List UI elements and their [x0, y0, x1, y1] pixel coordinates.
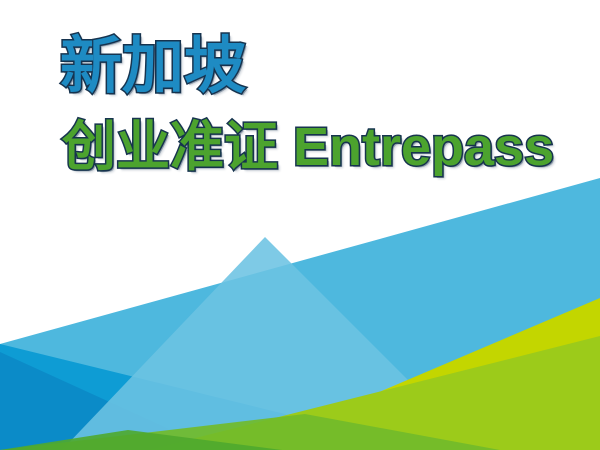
slide-title-block: 新加坡 创业准证 Entrepass: [0, 0, 600, 200]
slide-title-secondary: 创业准证 Entrepass: [62, 120, 554, 174]
slide-title-primary: 新加坡: [60, 36, 246, 98]
presentation-slide: 新加坡 创业准证 Entrepass: [0, 0, 600, 450]
